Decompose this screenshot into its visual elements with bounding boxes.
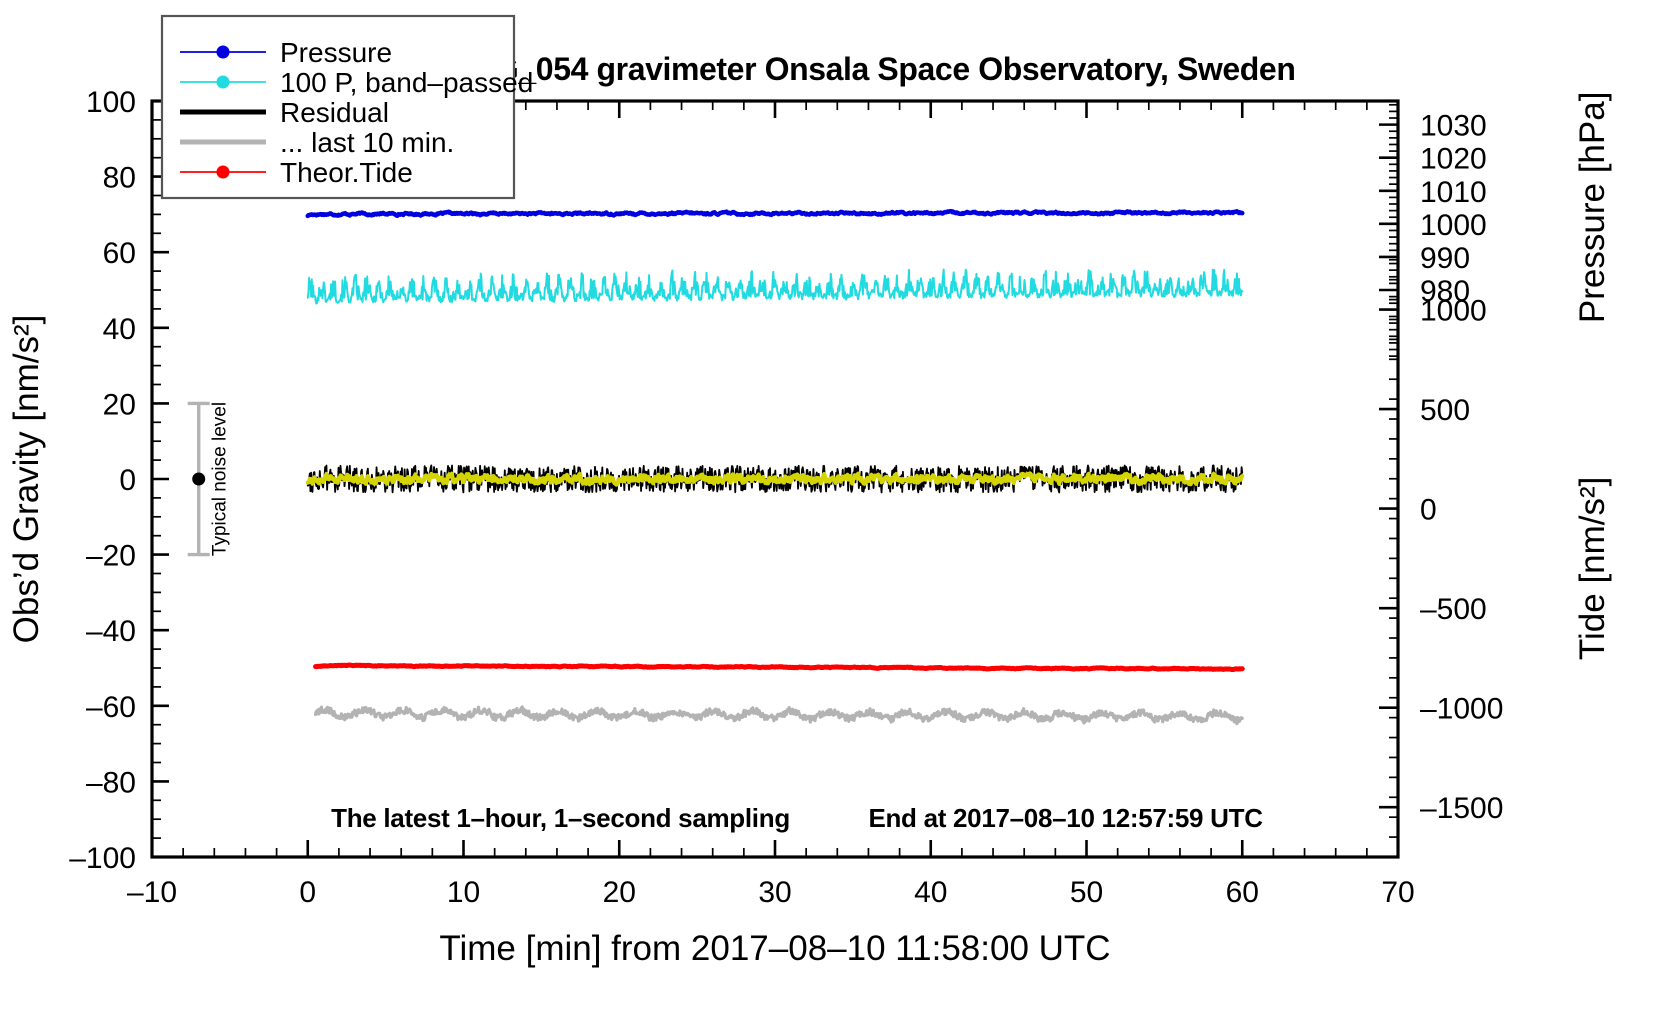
pressure-tick-label: 1010 (1420, 176, 1487, 209)
legend-label: Pressure (280, 37, 392, 68)
x-tick-label: 0 (299, 876, 316, 909)
y-tick-label: 40 (103, 313, 136, 346)
y-tick-label: –80 (86, 766, 136, 799)
x-tick-label: 60 (1226, 876, 1259, 909)
noise-bar-point (192, 473, 205, 486)
gravimeter-chart-figure: –10010203040506070–100–80–60–40–20020406… (0, 0, 1660, 1020)
pressure-tick-label: 1020 (1420, 143, 1487, 176)
pressure-tick-label: 1030 (1420, 110, 1487, 143)
pressure-tick-label: 990 (1420, 242, 1470, 275)
x-tick-label: 10 (447, 876, 480, 909)
x-tick-label: 40 (914, 876, 947, 909)
y-tick-label: 100 (86, 86, 136, 119)
x-axis-title: Time [min] from 2017–08–10 11:58:00 UTC (439, 929, 1110, 968)
legend-marker-dot (217, 76, 230, 89)
x-tick-label: 30 (758, 876, 791, 909)
y-tick-label: 60 (103, 237, 136, 270)
chart-legend: Pressure100 P, band–passedResidual... la… (162, 16, 533, 198)
tide-tick-label: 0 (1420, 494, 1437, 527)
tide-tick-label: –1500 (1420, 792, 1503, 825)
y-axis-title: Obs’d Gravity [nm/s²] (7, 315, 46, 644)
y-tick-label: 20 (103, 388, 136, 421)
pressure-axis-title: Pressure [hPa] (1573, 92, 1612, 324)
x-tick-label: 50 (1070, 876, 1103, 909)
noise-level-label: Typical noise level (210, 402, 231, 556)
x-tick-label: 20 (603, 876, 636, 909)
chart-canvas: –10010203040506070–100–80–60–40–20020406… (0, 0, 1660, 1020)
y-tick-label: –100 (69, 842, 136, 875)
footer-left-annotation: The latest 1–hour, 1–second sampling (331, 803, 790, 833)
legend-marker-dot (217, 46, 230, 59)
tide-tick-label: 1000 (1420, 295, 1487, 328)
pressure-tick-label: 1000 (1420, 209, 1487, 242)
tide-axis-title: Tide [nm/s²] (1573, 477, 1612, 660)
y-tick-label: –60 (86, 691, 136, 724)
legend-label: Theor.Tide (280, 157, 413, 188)
legend-label: Residual (280, 97, 389, 128)
x-tick-label: –10 (127, 876, 177, 909)
y-tick-label: –20 (86, 540, 136, 573)
y-tick-label: 0 (119, 464, 136, 497)
x-tick-label: 70 (1381, 876, 1414, 909)
legend-marker-dot (217, 166, 230, 179)
legend-label: ... last 10 min. (280, 127, 454, 158)
tide-tick-label: –500 (1420, 593, 1487, 626)
y-tick-label: –40 (86, 615, 136, 648)
chart-title: SCG_054 gravimeter Onsala Space Observat… (450, 51, 1295, 87)
y-tick-label: 80 (103, 162, 136, 195)
footer-right-annotation: End at 2017–08–10 12:57:59 UTC (868, 803, 1263, 833)
tide-tick-label: –1000 (1420, 693, 1503, 726)
legend-label: 100 P, band–passed (280, 67, 533, 98)
tide-tick-label: 500 (1420, 394, 1470, 427)
